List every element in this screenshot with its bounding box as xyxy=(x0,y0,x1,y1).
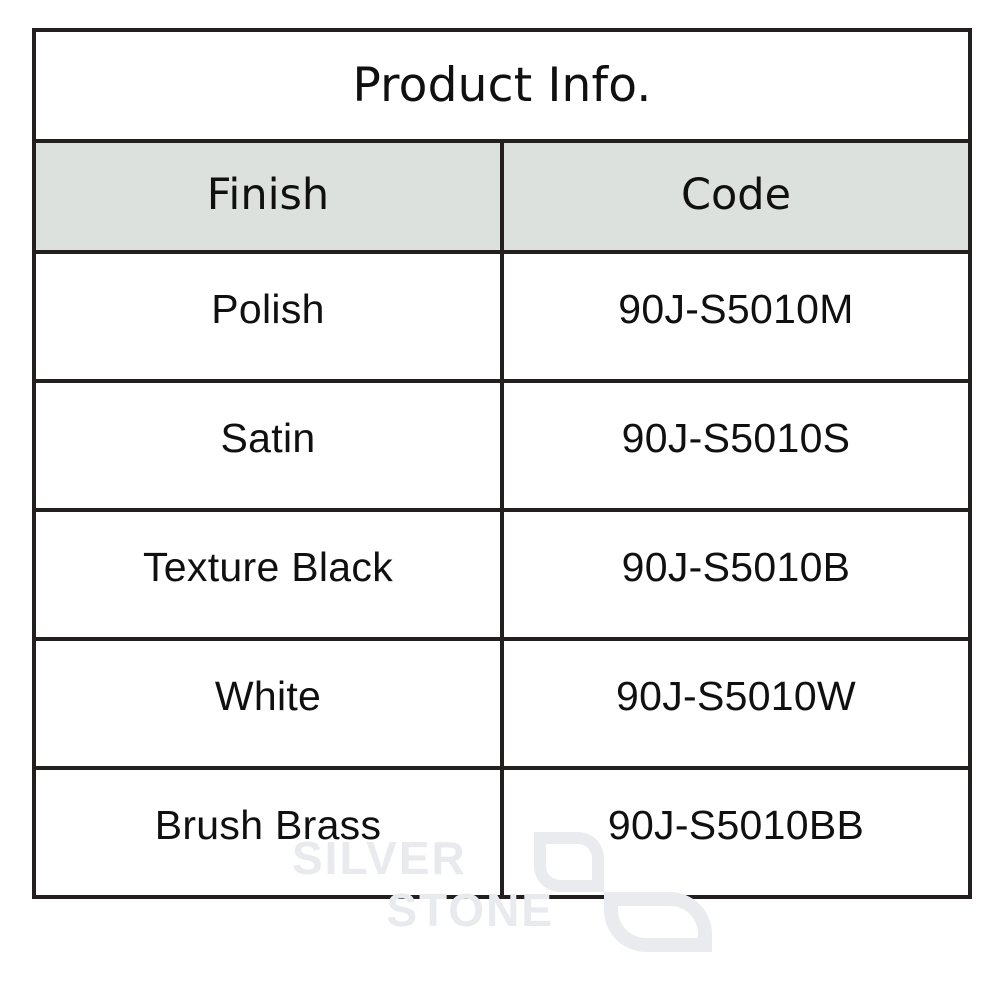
cell-code: 90J-S5010M xyxy=(502,252,970,381)
cell-finish: Brush Brass xyxy=(34,768,502,897)
cell-finish: Polish xyxy=(34,252,502,381)
table-row: White 90J-S5010W xyxy=(34,639,970,768)
cell-finish: White xyxy=(34,639,502,768)
table-row: Texture Black 90J-S5010B xyxy=(34,510,970,639)
table-row: Polish 90J-S5010M xyxy=(34,252,970,381)
table-title: Product Info. xyxy=(34,30,970,141)
cell-code: 90J-S5010BB xyxy=(502,768,970,897)
table-title-row: Product Info. xyxy=(34,30,970,141)
cell-code: 90J-S5010B xyxy=(502,510,970,639)
table-header-row: Finish Code xyxy=(34,141,970,252)
cell-finish: Satin xyxy=(34,381,502,510)
product-info-table: Product Info. Finish Code Polish 90J-S50… xyxy=(32,28,972,899)
table-row: Brush Brass 90J-S5010BB xyxy=(34,768,970,897)
table-row: Satin 90J-S5010S xyxy=(34,381,970,510)
cell-code: 90J-S5010S xyxy=(502,381,970,510)
column-header-finish: Finish xyxy=(34,141,502,252)
cell-code: 90J-S5010W xyxy=(502,639,970,768)
cell-finish: Texture Black xyxy=(34,510,502,639)
column-header-code: Code xyxy=(502,141,970,252)
